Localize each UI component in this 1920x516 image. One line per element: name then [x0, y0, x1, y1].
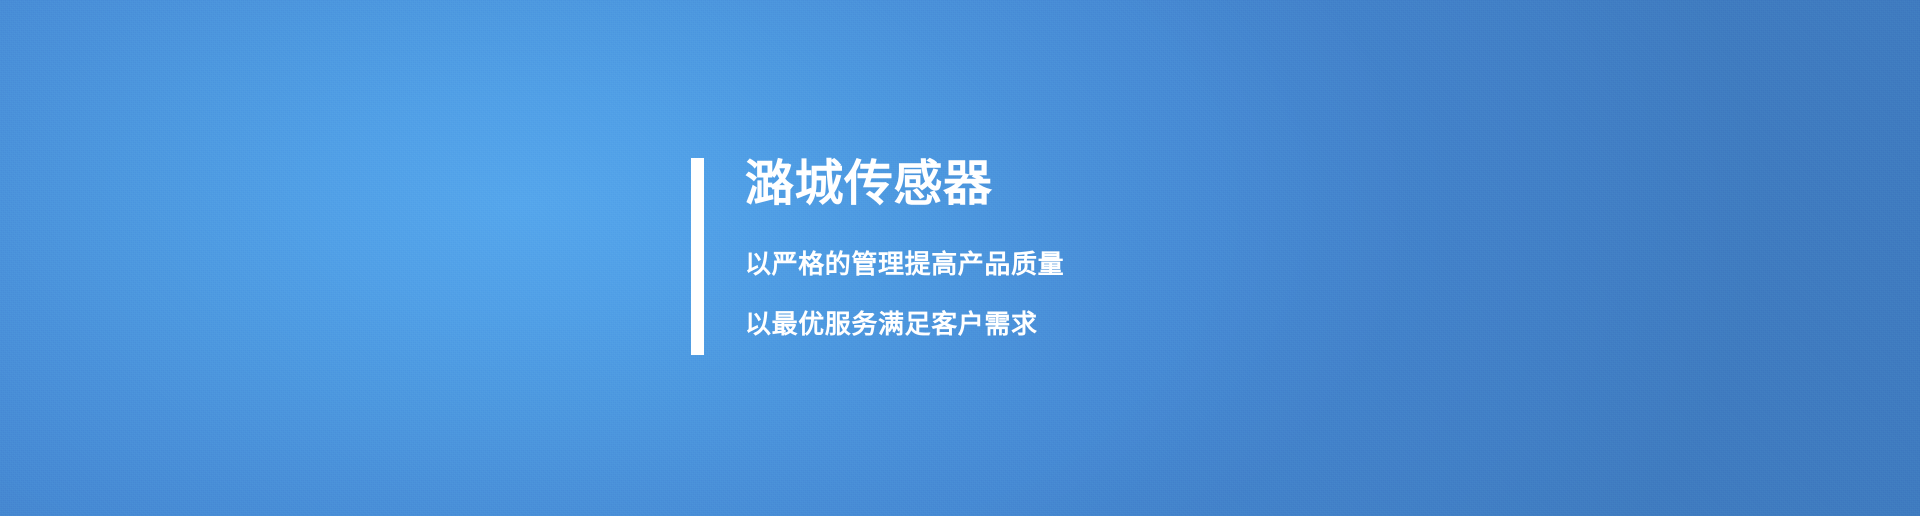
hero-subtitle-line-2: 以最优服务满足客户需求 — [745, 311, 1064, 337]
hero-content: 潞城传感器 以严格的管理提高产品质量 以最优服务满足客户需求 — [691, 158, 1064, 355]
page-title: 潞城传感器 — [745, 158, 1064, 209]
hero-subtitle-line-1: 以严格的管理提高产品质量 — [745, 251, 1064, 277]
hero-banner: 潞城传感器 以严格的管理提高产品质量 以最优服务满足客户需求 — [0, 0, 1920, 516]
vertical-white-rule-accent — [691, 158, 704, 355]
hero-text-block: 潞城传感器 以严格的管理提高产品质量 以最优服务满足客户需求 — [745, 158, 1064, 355]
